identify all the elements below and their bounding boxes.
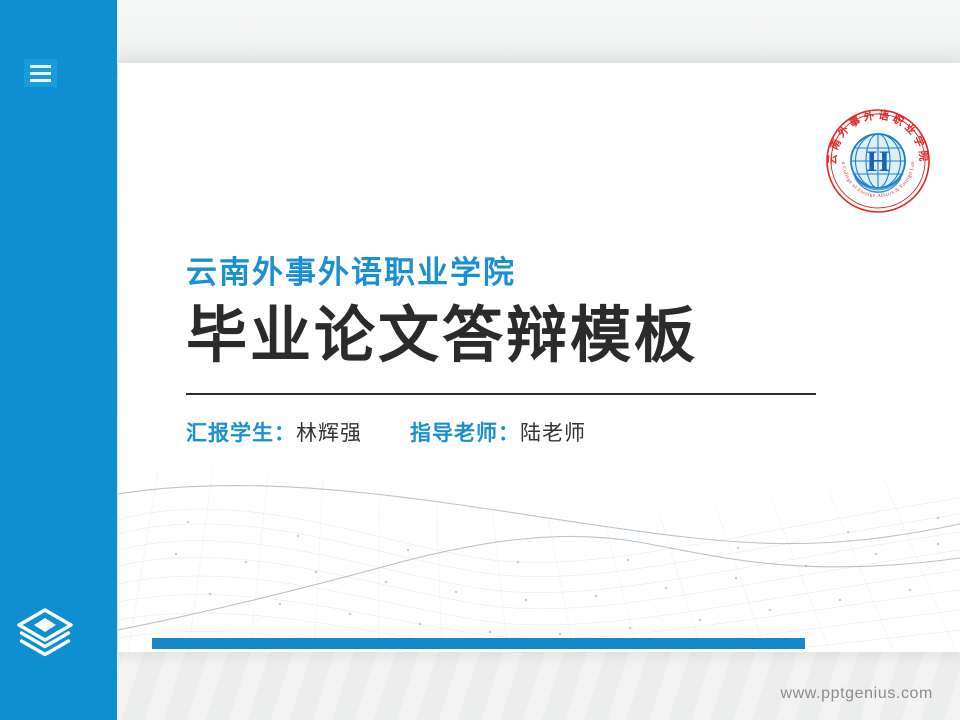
menu-bar-3 (30, 79, 51, 82)
menu-bar-2 (30, 72, 51, 75)
site-url: www.pptgenius.com (781, 685, 934, 703)
title-block: 云南外事外语职业学院 毕业论文答辩模板 汇报学生：林辉强 指导老师：陆老师 (186, 255, 886, 446)
title-divider (186, 393, 816, 395)
organization-name: 云南外事外语职业学院 (186, 255, 886, 291)
advisor-label: 指导老师： (410, 422, 520, 445)
advisor-value: 陆老师 (520, 422, 586, 445)
menu-bar-1 (30, 65, 51, 68)
student-value: 林辉强 (296, 422, 362, 445)
university-seal-logo: 云南外事外语职业学院 Yunnan College of Foreign Aff… (818, 101, 938, 221)
wireframe-mesh-decoration (118, 462, 960, 652)
left-sidebar (0, 0, 117, 720)
student-label: 汇报学生： (186, 422, 296, 445)
meta-item-student: 汇报学生：林辉强 (186, 421, 362, 446)
page-title: 毕业论文答辩模板 (186, 301, 886, 369)
stacked-layers-icon[interactable] (14, 606, 76, 662)
svg-text:H: H (866, 145, 889, 178)
slide-foot-bar (152, 638, 805, 649)
slide-viewer: 云南外事外语职业学院 Yunnan College of Foreign Aff… (0, 0, 960, 720)
meta-item-advisor: 指导老师：陆老师 (410, 421, 586, 446)
slide-canvas: 云南外事外语职业学院 Yunnan College of Foreign Aff… (118, 63, 960, 652)
hamburger-menu-icon[interactable] (24, 59, 57, 87)
presenter-meta-row: 汇报学生：林辉强 指导老师：陆老师 (186, 421, 886, 446)
